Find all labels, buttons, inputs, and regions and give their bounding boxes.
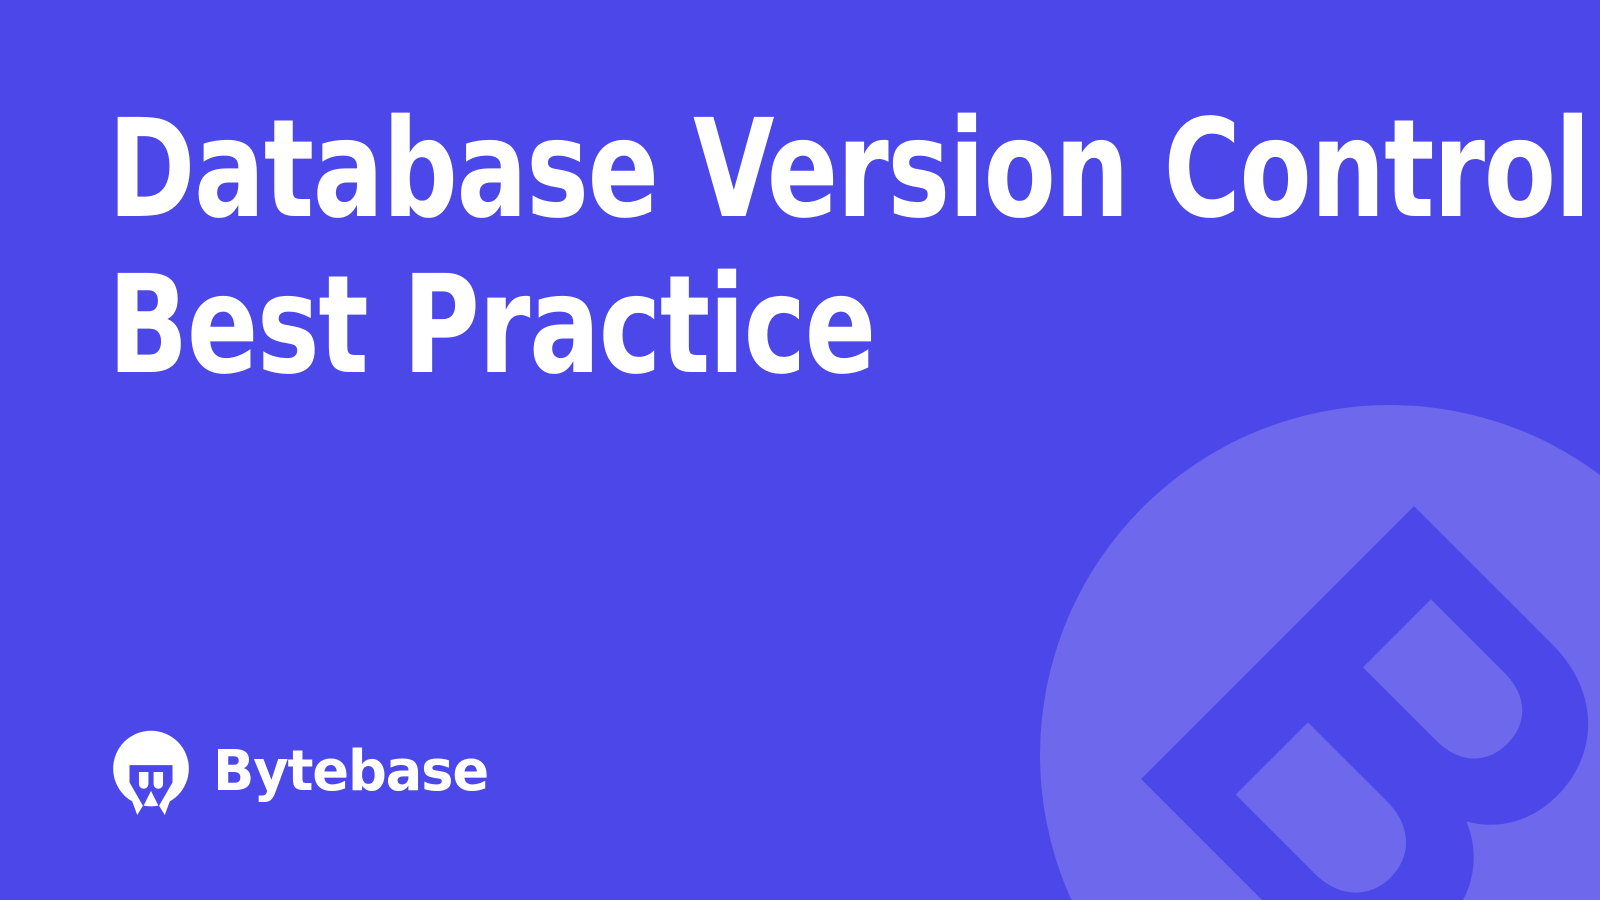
page-title-line-2: Best Practice: [108, 248, 1278, 404]
social-share-card: Database Version Control Best Practice: [0, 0, 1600, 900]
bytebase-logo-icon: [108, 729, 194, 815]
brand-lockup[interactable]: Bytebase: [108, 729, 497, 815]
page-title: Database Version Control Best Practice: [108, 92, 1468, 404]
brand-wordmark: Bytebase: [213, 742, 488, 802]
page-title-line-1: Database Version Control: [108, 92, 1278, 248]
